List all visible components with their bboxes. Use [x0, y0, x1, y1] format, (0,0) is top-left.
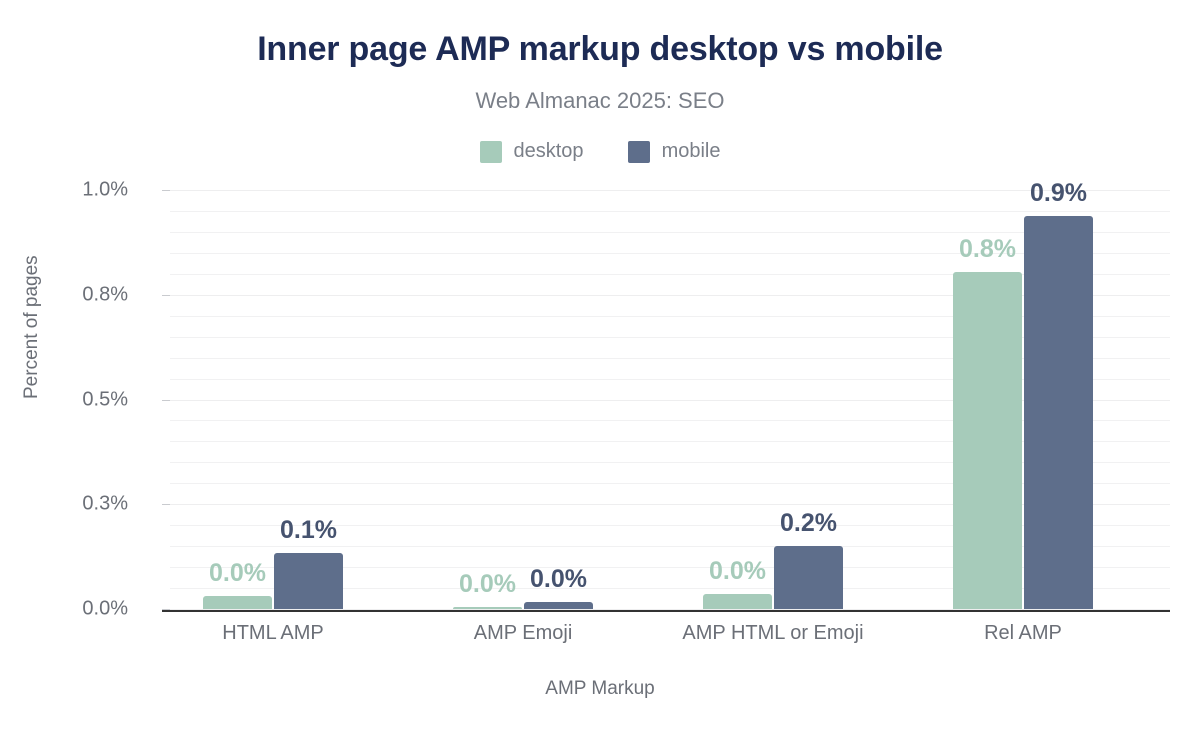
x-tick-label-1: HTML AMP [222, 622, 324, 645]
legend-item-mobile[interactable]: mobile [628, 140, 721, 163]
bar-label-desktop-1: 0.0% [209, 559, 266, 588]
x-axis-title: AMP Markup [0, 678, 1200, 700]
y-tick-mark [162, 295, 170, 296]
legend-item-desktop[interactable]: desktop [480, 140, 584, 163]
x-tick-label-3: AMP HTML or Emoji [682, 622, 863, 645]
bar-label-mobile-2: 0.0% [530, 565, 587, 594]
legend-swatch-mobile [628, 141, 650, 163]
bar-label-mobile-3: 0.2% [780, 509, 837, 538]
legend-label-desktop: desktop [514, 140, 584, 163]
bar-desktop-4[interactable] [953, 272, 1022, 609]
chart-legend: desktop mobile [0, 140, 1200, 163]
bar-label-mobile-1: 0.1% [280, 516, 337, 545]
chart-title: Inner page AMP markup desktop vs mobile [0, 30, 1200, 69]
bar-mobile-1[interactable] [274, 553, 343, 609]
gridline [170, 211, 1170, 212]
bar-label-desktop-2: 0.0% [459, 570, 516, 599]
bar-label-desktop-3: 0.0% [709, 557, 766, 586]
bar-desktop-1[interactable] [203, 596, 272, 609]
bar-mobile-4[interactable] [1024, 216, 1093, 609]
legend-label-mobile: mobile [662, 140, 721, 163]
y-tick-mark [162, 504, 170, 505]
gridline-major [170, 609, 1170, 610]
plot-area: 0.0%0.3%0.5%0.8%1.0%0.0%0.1%HTML AMP0.0%… [170, 190, 1170, 609]
bar-label-mobile-4: 0.9% [1030, 179, 1087, 208]
bar-mobile-3[interactable] [774, 546, 843, 609]
y-tick-label: 0.0% [8, 598, 128, 621]
y-tick-label: 0.5% [8, 388, 128, 411]
bar-desktop-2[interactable] [453, 607, 522, 609]
x-tick-label-2: AMP Emoji [474, 622, 573, 645]
y-tick-label: 1.0% [8, 179, 128, 202]
bar-desktop-3[interactable] [703, 594, 772, 609]
y-tick-label: 0.8% [8, 283, 128, 306]
y-axis-title: Percent of pages [21, 255, 43, 399]
y-tick-label: 0.3% [8, 493, 128, 516]
gridline [170, 232, 1170, 233]
legend-swatch-desktop [480, 141, 502, 163]
chart-page: Inner page AMP markup desktop vs mobile … [0, 0, 1200, 742]
y-tick-mark [162, 400, 170, 401]
y-tick-mark [162, 609, 170, 610]
gridline-major [170, 190, 1170, 191]
gridline [170, 253, 1170, 254]
y-tick-mark [162, 190, 170, 191]
bar-label-desktop-4: 0.8% [959, 235, 1016, 264]
x-tick-label-4: Rel AMP [984, 622, 1062, 645]
bar-mobile-2[interactable] [524, 602, 593, 609]
chart-subtitle: Web Almanac 2025: SEO [0, 88, 1200, 114]
